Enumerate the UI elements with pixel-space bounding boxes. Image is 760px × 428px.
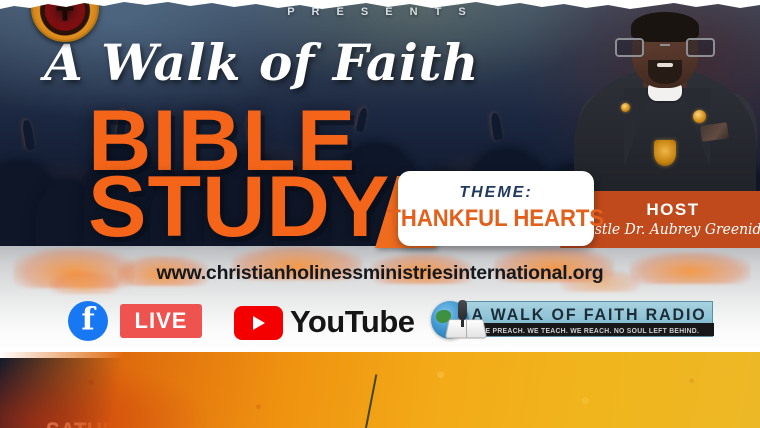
youtube-play-icon[interactable] (234, 306, 283, 340)
radio-banner-bar: A WALK OF FAITH RADIO WE PREACH. WE TEAC… (463, 301, 713, 337)
radio-tagline: WE PREACH. WE TEACH. WE REACH. NO SOUL L… (468, 328, 711, 335)
microphone-icon (458, 300, 467, 320)
live-badge[interactable]: LIVE (120, 304, 202, 338)
radio-title: A WALK OF FAITH RADIO (472, 305, 707, 325)
theme-label: THEME: (459, 184, 532, 202)
schedule-section (0, 352, 760, 428)
script-title: A Walk of Faith (44, 33, 464, 92)
portrait-mouth (657, 63, 673, 67)
open-book-icon (445, 319, 487, 338)
bible-study-flyer: P R E S E N T S A Walk of Faith BIBLE ST… (0, 0, 760, 428)
host-label: HOST (646, 201, 699, 218)
paper-texture (0, 352, 760, 428)
live-label: LIVE (135, 308, 188, 334)
decorative-stalk (365, 374, 378, 428)
radio-badge[interactable]: A WALK OF FAITH RADIO WE PREACH. WE TEAC… (431, 298, 713, 341)
lapel-pin-left (621, 103, 630, 112)
torn-paper-edge (0, 0, 760, 14)
eyeglass-lens-right (686, 38, 715, 57)
main-title-line-2: STUDY (88, 168, 390, 247)
website-url[interactable]: www.christianholinessministriesinternati… (0, 262, 760, 285)
lapel-pin-right (693, 110, 706, 123)
portrait-lapel-left (624, 88, 654, 166)
eyeglass-bridge (660, 44, 670, 46)
host-portrait (570, 0, 760, 205)
theme-banner: THEME: THANKFUL HEARTS (398, 171, 594, 246)
pectoral-medal (654, 140, 676, 166)
eyeglass-lens-left (615, 38, 644, 57)
facebook-icon[interactable] (68, 301, 108, 341)
theme-value: THANKFUL HEARTS (388, 205, 605, 233)
youtube-label: YouTube (290, 306, 415, 339)
